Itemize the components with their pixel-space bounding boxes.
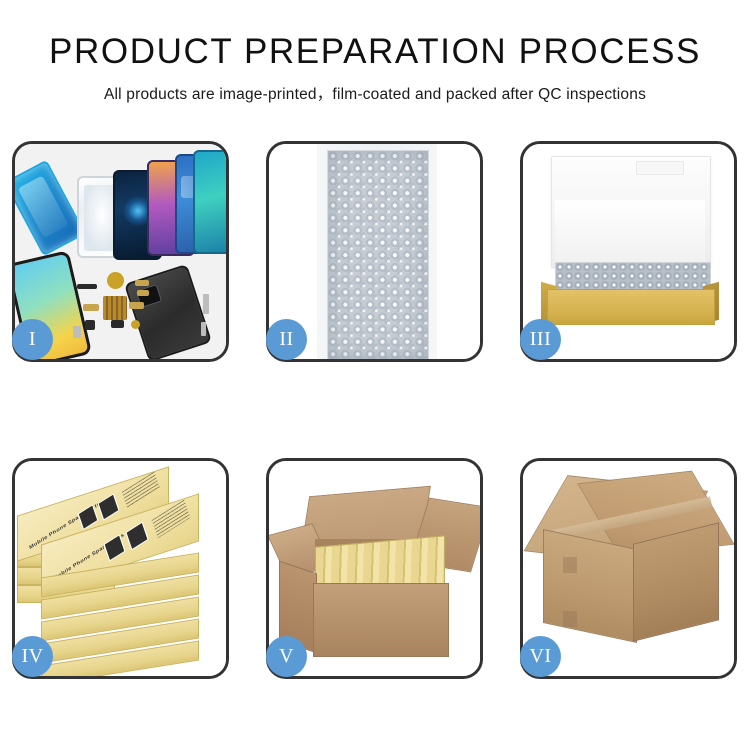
step-badge-6: VI bbox=[520, 636, 561, 677]
step-badge-2: II bbox=[266, 319, 307, 360]
step-badge-5: V bbox=[266, 636, 307, 677]
page-subtitle: All products are image-printed，film-coat… bbox=[0, 82, 750, 104]
sim-tray-icon bbox=[73, 326, 81, 338]
screen-protector-film-icon bbox=[15, 160, 86, 257]
step-numeral: VI bbox=[529, 645, 551, 668]
page-title: PRODUCT PREPARATION PROCESS bbox=[0, 34, 750, 69]
carton-front-icon bbox=[313, 583, 449, 657]
step-panel-inner-box: III bbox=[520, 141, 737, 362]
carton-side-face-icon bbox=[633, 522, 719, 641]
screwdriver-icon bbox=[201, 322, 206, 336]
box-screen-graphic bbox=[97, 493, 119, 520]
step-numeral: II bbox=[279, 328, 293, 351]
flex-cable-2-icon bbox=[137, 290, 149, 296]
phone-display-teal-icon bbox=[193, 150, 226, 254]
step-badge-1: I bbox=[12, 319, 53, 360]
page-header: PRODUCT PREPARATION PROCESS All products… bbox=[0, 0, 750, 104]
camera-module-icon bbox=[107, 272, 124, 289]
step-badge-4: IV bbox=[12, 636, 53, 677]
logic-board-icon bbox=[103, 296, 127, 320]
step-numeral: IV bbox=[21, 645, 43, 668]
carton-front-face-icon bbox=[543, 529, 637, 643]
speaker-part-icon bbox=[77, 284, 97, 289]
step-panel-stacked-boxes: Mobile Phone Spare Parts Mobile Phone Sp… bbox=[12, 458, 229, 679]
step-numeral: I bbox=[29, 328, 36, 351]
step-numeral: V bbox=[279, 645, 294, 668]
flex-cable-icon bbox=[135, 280, 149, 286]
box-spec-lines bbox=[122, 472, 160, 510]
process-steps-grid: I II bbox=[12, 141, 738, 679]
tweezers-icon bbox=[203, 294, 209, 314]
product-preparation-page: PRODUCT PREPARATION PROCESS All products… bbox=[0, 0, 750, 750]
step-panel-bubble-wrap: II bbox=[266, 141, 483, 362]
carton-seam-icon bbox=[563, 557, 577, 573]
step-badge-3: III bbox=[520, 319, 561, 360]
step-panel-phone-parts: I bbox=[12, 141, 229, 362]
button-part-icon bbox=[85, 320, 95, 330]
box-lid-tab-icon bbox=[636, 161, 684, 175]
box-liner-icon bbox=[555, 200, 705, 266]
box-front-panel-icon bbox=[547, 289, 715, 325]
connector-icon bbox=[83, 304, 99, 311]
screw-set-icon bbox=[131, 320, 140, 329]
box-screen-graphic bbox=[125, 522, 148, 551]
carton-seam-icon bbox=[563, 611, 577, 627]
phone-back-housing-icon bbox=[124, 264, 212, 359]
step-panel-open-carton: V bbox=[266, 458, 483, 679]
vibrator-icon bbox=[111, 320, 124, 328]
bubble-wrap-icon bbox=[327, 150, 429, 359]
step-panel-sealed-carton: VI bbox=[520, 458, 737, 679]
step-numeral: III bbox=[530, 328, 551, 351]
antenna-flex-icon bbox=[129, 302, 144, 309]
